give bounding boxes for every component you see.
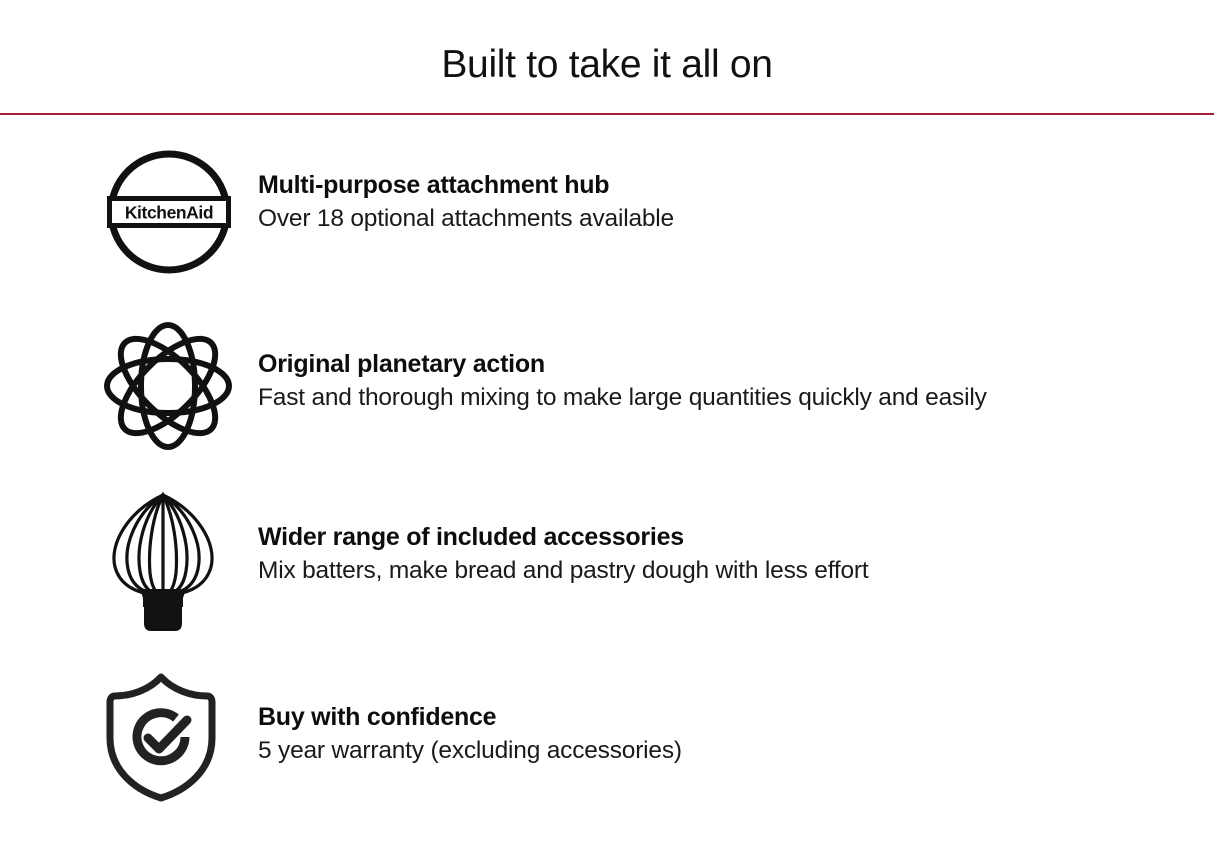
feature-text-cell: Multi-purpose attachment hub Over 18 opt… — [258, 143, 1214, 235]
page-header: Built to take it all on — [0, 0, 1214, 115]
feature-title: Buy with confidence — [258, 702, 1214, 733]
feature-item: Buy with confidence 5 year warranty (exc… — [0, 662, 1214, 835]
feature-list: KitchenAid Multi-purpose attachment hub … — [0, 115, 1214, 835]
feature-icon-cell — [0, 662, 258, 802]
feature-description: Over 18 optional attachments available — [258, 204, 1214, 234]
feature-text-cell: Original planetary action Fast and thoro… — [258, 316, 1214, 414]
svg-text:KitchenAid: KitchenAid — [125, 202, 213, 222]
page-title: Built to take it all on — [0, 44, 1214, 87]
feature-icon-cell — [0, 489, 258, 637]
feature-text-cell: Buy with confidence 5 year warranty (exc… — [258, 662, 1214, 767]
feature-text-cell: Wider range of included accessories Mix … — [258, 489, 1214, 587]
feature-title: Multi-purpose attachment hub — [258, 170, 1214, 201]
feature-description: Fast and thorough mixing to make large q… — [258, 383, 1214, 413]
feature-description: Mix batters, make bread and pastry dough… — [258, 556, 1214, 586]
planetary-orbit-icon — [103, 322, 233, 450]
kitchenaid-logo-icon: KitchenAid — [103, 149, 235, 275]
wire-whisk-icon — [103, 489, 223, 637]
feature-item: KitchenAid Multi-purpose attachment hub … — [0, 143, 1214, 316]
feature-title: Wider range of included accessories — [258, 522, 1214, 553]
feature-icon-cell — [0, 316, 258, 450]
feature-item: Wider range of included accessories Mix … — [0, 489, 1214, 662]
feature-icon-cell: KitchenAid — [0, 143, 258, 275]
feature-item: Original planetary action Fast and thoro… — [0, 316, 1214, 489]
shield-check-icon — [103, 672, 219, 802]
feature-description: 5 year warranty (excluding accessories) — [258, 736, 1214, 766]
feature-title: Original planetary action — [258, 349, 1214, 380]
